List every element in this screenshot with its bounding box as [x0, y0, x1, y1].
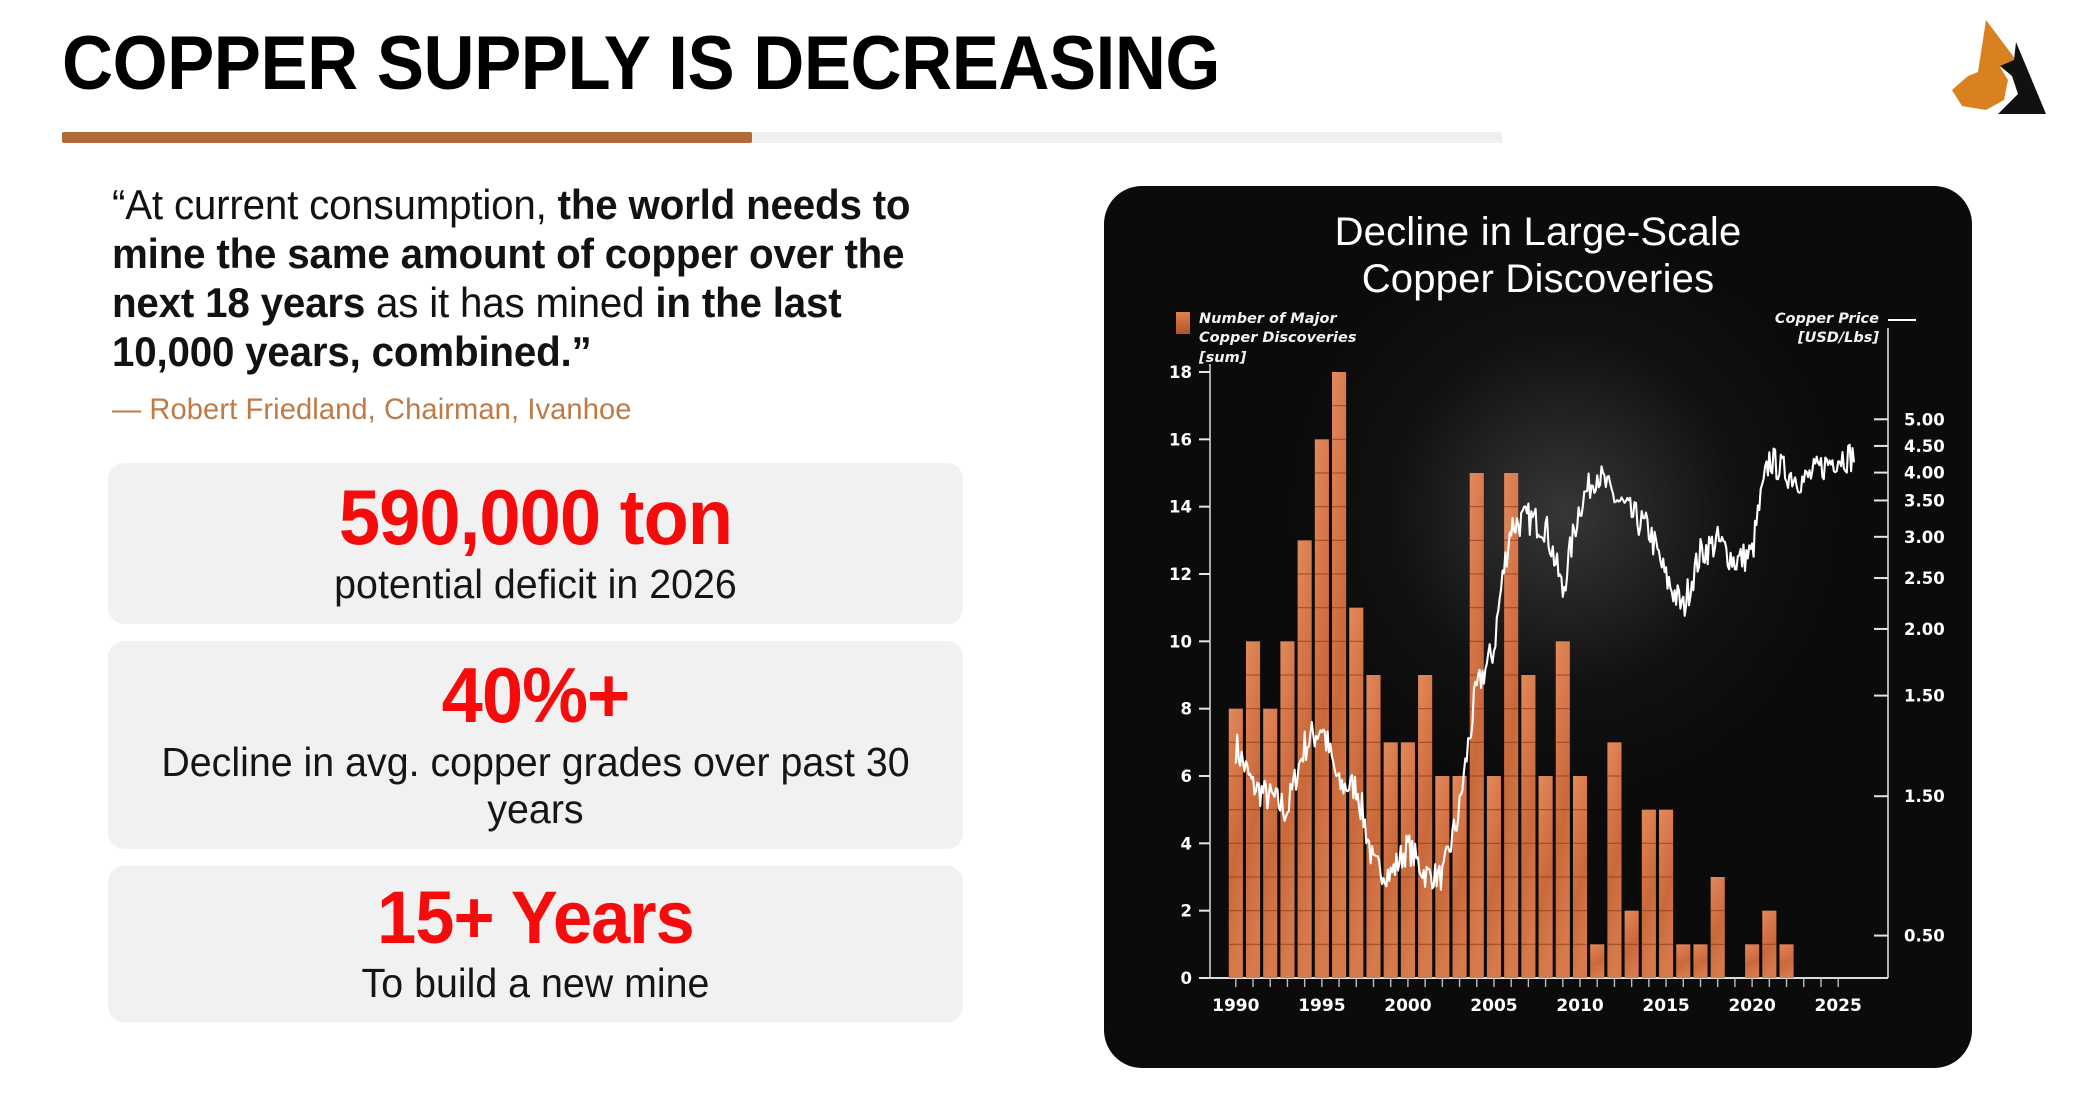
svg-text:4: 4: [1181, 834, 1192, 853]
stat-number: 15+ Years: [148, 878, 922, 958]
stat-label: Decline in avg. copper grades over past …: [144, 739, 926, 832]
svg-text:5.00: 5.00: [1904, 410, 1945, 429]
legend-line-3: [sum]: [1199, 349, 1356, 368]
slide-root: COPPER SUPPLY IS DECREASING “At current …: [0, 0, 2096, 1101]
quote-part-3: as it has mined: [365, 279, 655, 326]
svg-text:0.50: 0.50: [1904, 927, 1945, 946]
svg-text:1.50: 1.50: [1904, 687, 1945, 706]
svg-text:4.00: 4.00: [1904, 464, 1945, 483]
stat-label: To build a new mine: [144, 960, 926, 1007]
company-mountain-logo-icon: [1942, 14, 2070, 122]
chart-panel: Decline in Large-Scale Copper Discoverie…: [1104, 186, 1972, 1068]
legend-discoveries-text: Number of Major Copper Discoveries [sum]: [1199, 310, 1356, 368]
quote-block: “At current consumption, the world needs…: [112, 180, 992, 427]
stat-card-list: 590,000 ton potential deficit in 2026 40…: [108, 463, 963, 1039]
quote-text: “At current consumption, the world needs…: [112, 180, 957, 377]
svg-text:2015: 2015: [1642, 996, 1689, 1016]
svg-text:1995: 1995: [1298, 996, 1345, 1016]
page-title: COPPER SUPPLY IS DECREASING: [62, 26, 1457, 102]
svg-text:6: 6: [1181, 767, 1192, 786]
stat-card: 15+ Years To build a new mine: [108, 866, 963, 1023]
stat-number: 590,000 ton: [148, 475, 922, 559]
legend-line-swatch-icon: [1888, 319, 1916, 321]
page-title-wrap: COPPER SUPPLY IS DECREASING: [62, 26, 1562, 102]
svg-text:2005: 2005: [1470, 996, 1517, 1016]
title-underline: [62, 132, 1502, 143]
legend-line-2: [USD/Lbs]: [1775, 329, 1879, 348]
quote-attribution: — Robert Friedland, Chairman, Ivanhoe: [112, 393, 966, 427]
svg-text:4.50: 4.50: [1904, 437, 1945, 456]
legend-copper-price: Copper Price [USD/Lbs]: [1775, 310, 1916, 349]
stat-card: 40%+ Decline in avg. copper grades over …: [108, 641, 963, 849]
svg-text:2.50: 2.50: [1904, 569, 1945, 588]
svg-text:12: 12: [1169, 565, 1192, 584]
stat-label: potential deficit in 2026: [144, 561, 926, 608]
svg-text:1.50: 1.50: [1904, 787, 1945, 806]
svg-text:2.00: 2.00: [1904, 620, 1945, 639]
legend-line-1: Number of Major: [1199, 310, 1356, 329]
quote-part-1: “At current consumption,: [112, 181, 558, 228]
svg-text:16: 16: [1169, 430, 1192, 449]
legend-discoveries: Number of Major Copper Discoveries [sum]: [1176, 310, 1356, 368]
chart-title-line-2: Copper Discoveries: [1104, 256, 1972, 303]
svg-text:2000: 2000: [1384, 996, 1431, 1016]
svg-text:8: 8: [1181, 700, 1192, 719]
legend-price-text: Copper Price [USD/Lbs]: [1775, 310, 1879, 349]
svg-text:2020: 2020: [1728, 996, 1775, 1016]
svg-text:2025: 2025: [1815, 996, 1862, 1016]
svg-text:2: 2: [1181, 902, 1192, 921]
legend-bar-swatch-icon: [1176, 312, 1190, 334]
svg-text:1990: 1990: [1212, 996, 1259, 1016]
svg-text:3.50: 3.50: [1904, 491, 1945, 510]
svg-text:10: 10: [1169, 632, 1192, 651]
stat-card: 590,000 ton potential deficit in 2026: [108, 463, 963, 624]
svg-text:3.00: 3.00: [1904, 528, 1945, 547]
title-underline-fill: [62, 132, 752, 143]
chart-title-line-1: Decline in Large-Scale: [1104, 209, 1972, 256]
svg-text:0: 0: [1181, 969, 1192, 988]
stat-number: 40%+: [148, 653, 922, 737]
svg-text:2010: 2010: [1556, 996, 1603, 1016]
legend-line-2: Copper Discoveries: [1199, 329, 1356, 348]
svg-text:14: 14: [1169, 498, 1192, 517]
legend-line-1: Copper Price: [1775, 310, 1879, 329]
chart-title: Decline in Large-Scale Copper Discoverie…: [1104, 186, 1972, 303]
